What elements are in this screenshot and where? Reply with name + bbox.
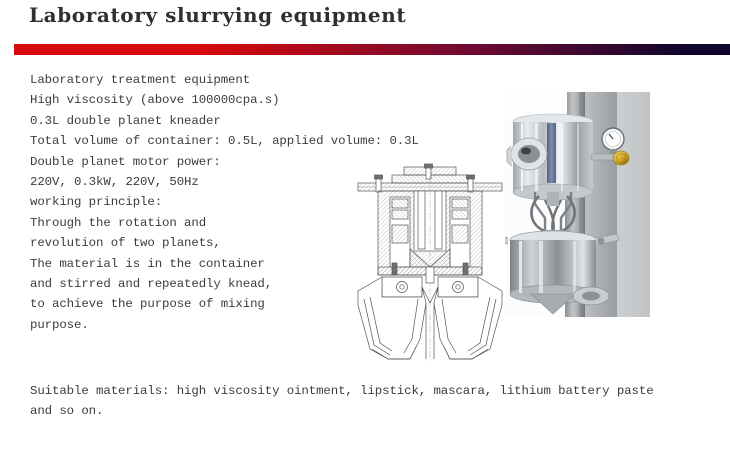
specification-text-block: Laboratory treatment equipment High visc… — [30, 70, 360, 335]
spec-line: purpose. — [30, 315, 360, 335]
spec-line: 220V, 0.3kW, 220V, 50Hz — [30, 172, 360, 192]
suitable-materials-note: Suitable materials: high viscosity ointm… — [30, 381, 706, 422]
footer-line: Suitable materials: high viscosity ointm… — [30, 381, 706, 401]
spec-line: Laboratory treatment equipment — [30, 70, 360, 90]
spec-line: working principle: — [30, 192, 360, 212]
spec-line: and stirred and repeatedly knead, — [30, 274, 360, 294]
spec-line: High viscosity (above 100000cpa.s) — [30, 90, 360, 110]
spec-line: revolution of two planets, — [30, 233, 360, 253]
technical-drawing-figure — [340, 163, 520, 363]
top-hood — [507, 92, 567, 116]
spec-line: to achieve the purpose of mixing — [30, 294, 360, 314]
page-title: Laboratory slurrying equipment — [29, 3, 406, 27]
product-photo-figure — [505, 92, 650, 317]
spec-line: Through the rotation and — [30, 213, 360, 233]
spec-line: The material is in the container — [30, 254, 360, 274]
spec-line: Total volume of container: 0.5L, applied… — [30, 131, 360, 151]
footer-line: and so on. — [30, 401, 706, 421]
gradient-divider — [14, 44, 730, 55]
spec-line: 0.3L double planet kneader — [30, 111, 360, 131]
spec-line: Double planet motor power: — [30, 152, 360, 172]
cable-bundle — [547, 123, 556, 183]
slide-canvas: Laboratory slurrying equipment Laborator… — [0, 0, 730, 450]
